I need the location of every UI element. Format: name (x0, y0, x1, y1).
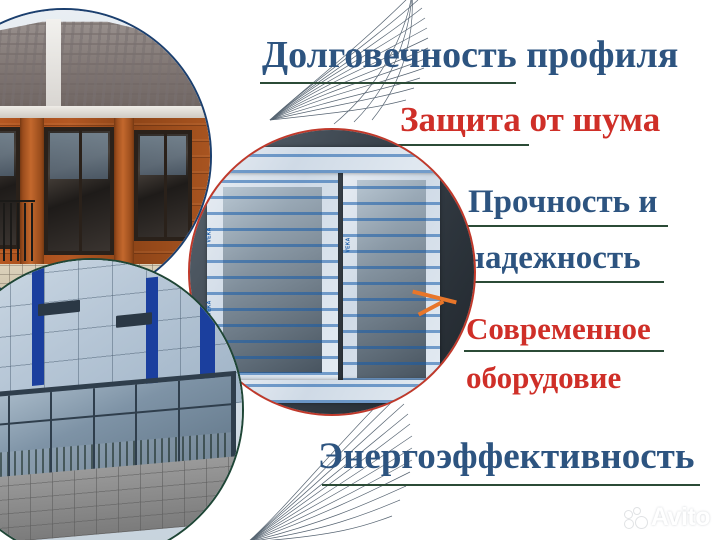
window-mullion (79, 131, 82, 251)
pvc-bottom-rail (218, 380, 445, 403)
headline-reliability: надежность (466, 242, 641, 275)
log-post (114, 112, 134, 281)
veka-brand-label: VEKA (346, 237, 352, 252)
veka-protective-film (201, 147, 445, 173)
headline-underline-durability (260, 82, 516, 84)
poster-canvas: VEKA VEKA VEKA (0, 0, 720, 540)
roof-ridge (46, 19, 61, 107)
house-window-right (134, 130, 192, 241)
avito-wordmark: Avito (651, 503, 710, 532)
photo-circle-facade (0, 258, 244, 540)
veka-brand-label: VEKA (206, 228, 212, 243)
window-glass-reflection (140, 136, 186, 175)
balcony-rail (0, 200, 35, 202)
veka-protective-film (343, 158, 440, 397)
headline-durability: Долговечность профиля (262, 36, 678, 74)
transom-bar (0, 403, 231, 428)
house-window-center (44, 127, 114, 255)
veka-protective-film (218, 380, 445, 403)
avito-dots-icon (625, 508, 647, 528)
pvc-top-rail (201, 147, 445, 173)
avito-watermark: Avito (625, 503, 710, 532)
headline-modern: Современное (466, 313, 651, 344)
headline-underline-energy-efficiency (322, 484, 700, 486)
window-glass-reflection (0, 133, 14, 177)
headline-strength: Прочность и (468, 186, 657, 219)
headline-underline-strength (466, 225, 668, 227)
pvc-window-unit-right: VEKA (343, 158, 440, 397)
headline-energy-efficiency: Энергоэффективность (318, 438, 694, 475)
blue-accent-panel (32, 259, 44, 386)
roof-fascia (0, 106, 212, 118)
headline-equipment: оборудовие (466, 362, 621, 393)
balcony-railing (0, 203, 35, 261)
window-mullion (164, 134, 167, 237)
headline-underline-modern (464, 350, 664, 352)
headline-underline-reliability (464, 281, 664, 283)
facade-photo-content (0, 260, 242, 540)
